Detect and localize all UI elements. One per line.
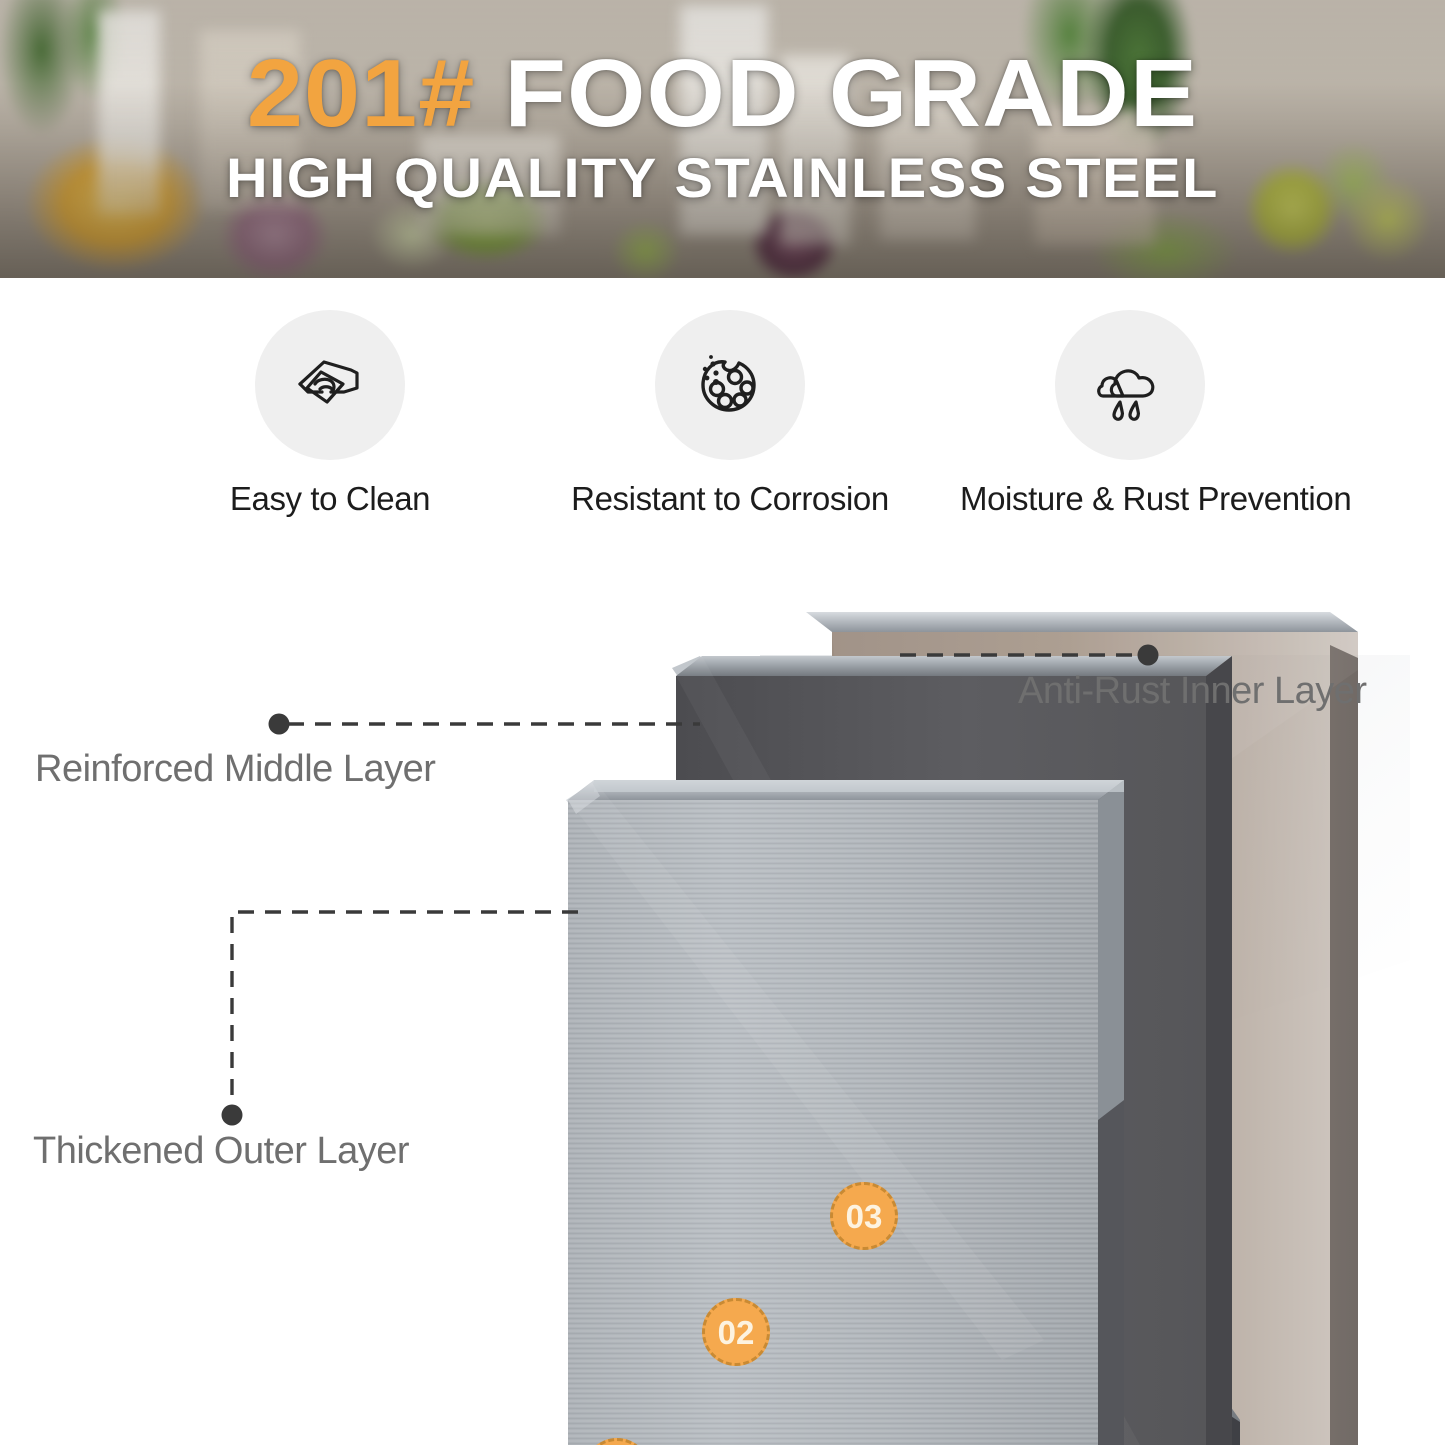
feature-icon-badge xyxy=(255,310,405,460)
feature-label: Moisture & Rust Prevention xyxy=(960,480,1300,518)
feature-moisture-rust-prevention: Moisture & Rust Prevention xyxy=(960,310,1300,518)
leader-dot-02 xyxy=(269,714,290,735)
feature-resistant-to-corrosion: Resistant to Corrosion xyxy=(565,310,895,518)
hero-title-rest: FOOD GRADE xyxy=(504,40,1198,147)
layer-label-thickened-outer: Thickened Outer Layer xyxy=(33,1130,409,1173)
layer-02-right-edge xyxy=(1206,656,1232,1445)
layer-badge-02: 02 xyxy=(702,1298,770,1366)
feature-icon-badge xyxy=(655,310,805,460)
feature-row: Easy to Clean xyxy=(0,310,1445,540)
layer-structure-diagram: 03 02 01 Anti-Rust Inner Layer Reinforce… xyxy=(0,560,1445,1445)
feature-label: Easy to Clean xyxy=(180,480,480,518)
layer-badge-number: 02 xyxy=(718,1316,755,1349)
product-infographic: 201# FOOD GRADE HIGH QUALITY STAINLESS S… xyxy=(0,0,1445,1445)
hero-text-block: 201# FOOD GRADE HIGH QUALITY STAINLESS S… xyxy=(0,46,1445,206)
feature-easy-to-clean: Easy to Clean xyxy=(180,310,480,518)
layer-badge-03: 03 xyxy=(830,1182,898,1250)
hero-subtitle: HIGH QUALITY STAINLESS STEEL xyxy=(0,150,1445,206)
leader-dot-03 xyxy=(1138,645,1159,666)
feature-label: Resistant to Corrosion xyxy=(565,480,895,518)
leader-dot-01 xyxy=(222,1105,243,1126)
corrosion-pitting-icon xyxy=(687,342,773,428)
layer-badge-number: 03 xyxy=(846,1200,883,1233)
feature-icon-badge xyxy=(1055,310,1205,460)
rain-cloud-icon xyxy=(1087,342,1173,428)
hero-title-accent: 201# xyxy=(247,40,475,147)
hand-wiping-cloth-icon xyxy=(287,342,373,428)
hero-title: 201# FOOD GRADE xyxy=(0,46,1445,142)
leader-line-01 xyxy=(232,912,578,1107)
layer-label-anti-rust-inner: Anti-Rust Inner Layer xyxy=(1018,670,1367,713)
hero-banner: 201# FOOD GRADE HIGH QUALITY STAINLESS S… xyxy=(0,0,1445,278)
layer-03-top-bevel xyxy=(806,612,1358,632)
layer-label-reinforced-middle: Reinforced Middle Layer xyxy=(35,748,435,791)
layer-01-02-notch xyxy=(1098,1100,1124,1445)
